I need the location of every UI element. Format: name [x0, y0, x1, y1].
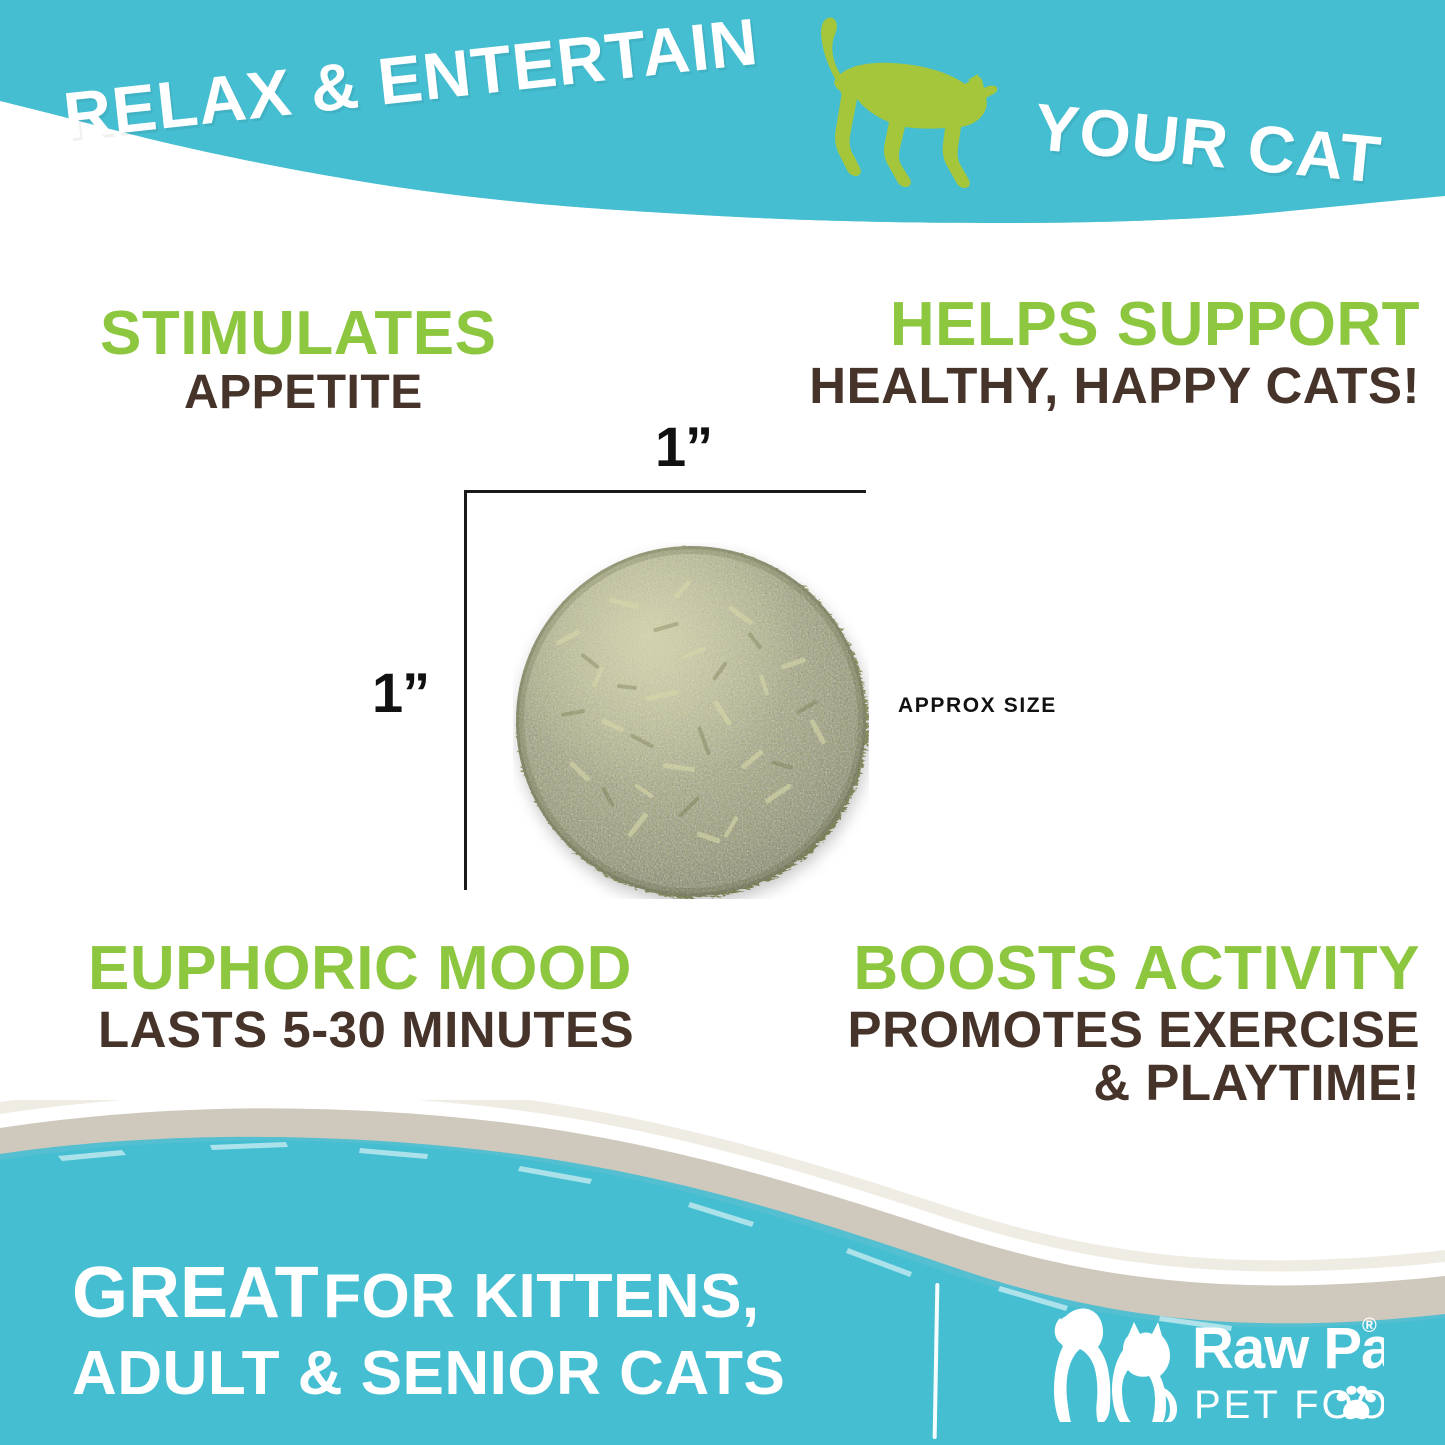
feature-stimulates-appetite: STIMULATES APPETITE — [100, 305, 497, 417]
feature-headline: STIMULATES — [100, 305, 497, 363]
dimension-label-height: 1” — [372, 660, 429, 725]
dimension-label-width: 1” — [655, 414, 712, 479]
cat-walking-silhouette-icon — [772, 8, 1032, 193]
dimension-line-horizontal — [464, 490, 866, 493]
header-banner — [0, 0, 1445, 250]
feature-euphoric-mood: EUPHORIC MOOD LASTS 5-30 MINUTES — [88, 940, 634, 1055]
footer-headline: GREAT FOR KITTENS, ADULT & SENIOR CATS — [72, 1252, 912, 1409]
feature-headline: BOOSTS ACTIVITY — [848, 940, 1420, 998]
feature-subline: LASTS 5-30 MINUTES — [98, 1004, 634, 1055]
approx-size-label: APPROX SIZE — [898, 694, 1057, 718]
footer-headline-rest: FOR KITTENS, — [323, 1262, 760, 1331]
dimension-line-vertical — [464, 490, 467, 890]
raw-paws-logo: Raw Paws ® PET FOOD — [1024, 1292, 1384, 1442]
footer-headline-line2: ADULT & SENIOR CATS — [72, 1338, 912, 1409]
footer-headline-great: GREAT — [72, 1253, 319, 1333]
infographic-canvas: RELAX & ENTERTAIN YOUR CAT STIMULATES AP… — [0, 0, 1445, 1445]
feature-headline: EUPHORIC MOOD — [88, 940, 634, 998]
feature-helps-support: HELPS SUPPORT HEALTHY, HAPPY CATS! — [809, 296, 1420, 411]
feature-headline: HELPS SUPPORT — [809, 296, 1420, 354]
feature-subline: APPETITE — [184, 369, 497, 417]
logo-brand-text: Raw Paws — [1192, 1316, 1384, 1381]
catnip-ball-image — [513, 543, 869, 899]
dog-and-cat-silhouette-icon — [1054, 1309, 1177, 1422]
logo-registered-mark: ® — [1362, 1315, 1377, 1337]
footer-headline-line1: GREAT FOR KITTENS, — [72, 1252, 912, 1334]
feature-subline: HEALTHY, HAPPY CATS! — [809, 360, 1420, 411]
feature-subline: PROMOTES EXERCISE — [848, 1004, 1420, 1055]
feature-boosts-activity: BOOSTS ACTIVITY PROMOTES EXERCISE & PLAY… — [848, 940, 1420, 1108]
